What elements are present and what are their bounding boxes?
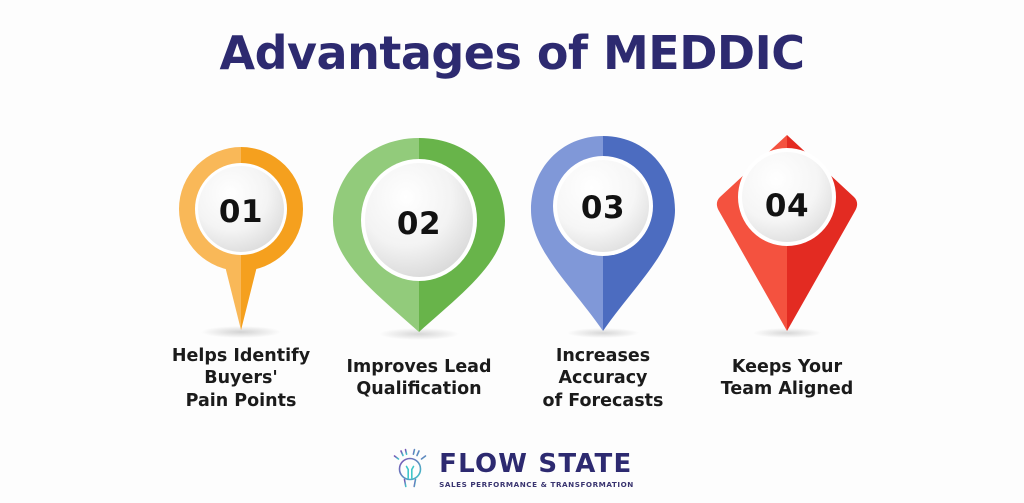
brand-logo[interactable]: FLOW STATE SALES PERFORMANCE & TRANSFORM… <box>0 447 1024 493</box>
lightbulb-icon <box>390 447 430 493</box>
map-pin-red-icon <box>694 134 880 342</box>
logo-wordmark: FLOW STATE <box>439 451 632 478</box>
pin-caption: Improves Lead Qualification <box>320 356 518 401</box>
pin-caption: Keeps Your Team Aligned <box>688 356 886 401</box>
pin-caption: Helps Identify Buyers' Pain Points <box>142 345 340 412</box>
pin-caption: Increases Accuracy of Forecasts <box>504 345 702 412</box>
logo-text-block: FLOW STATE SALES PERFORMANCE & TRANSFORM… <box>439 451 634 489</box>
logo-tagline: SALES PERFORMANCE & TRANSFORMATION <box>439 480 634 489</box>
page-title: Advantages of MEDDIC <box>0 26 1024 80</box>
pin-item-03[interactable]: 03 Increases Accuracy of Forecasts <box>510 134 696 434</box>
map-pin-blue-icon <box>510 134 696 342</box>
pin-item-04[interactable]: 04 Keeps Your Team Aligned <box>694 134 880 434</box>
map-pin-orange-icon <box>148 134 334 342</box>
map-pin-green-icon <box>326 134 512 342</box>
infographic-canvas: Advantages of MEDDIC <box>0 0 1024 503</box>
pin-item-01[interactable]: 01 Helps Identify Buyers' Pain Points <box>148 134 334 434</box>
pin-item-02[interactable]: 02 Improves Lead Qualification <box>326 134 512 434</box>
pin-row: 01 Helps Identify Buyers' Pain Points <box>148 134 892 434</box>
